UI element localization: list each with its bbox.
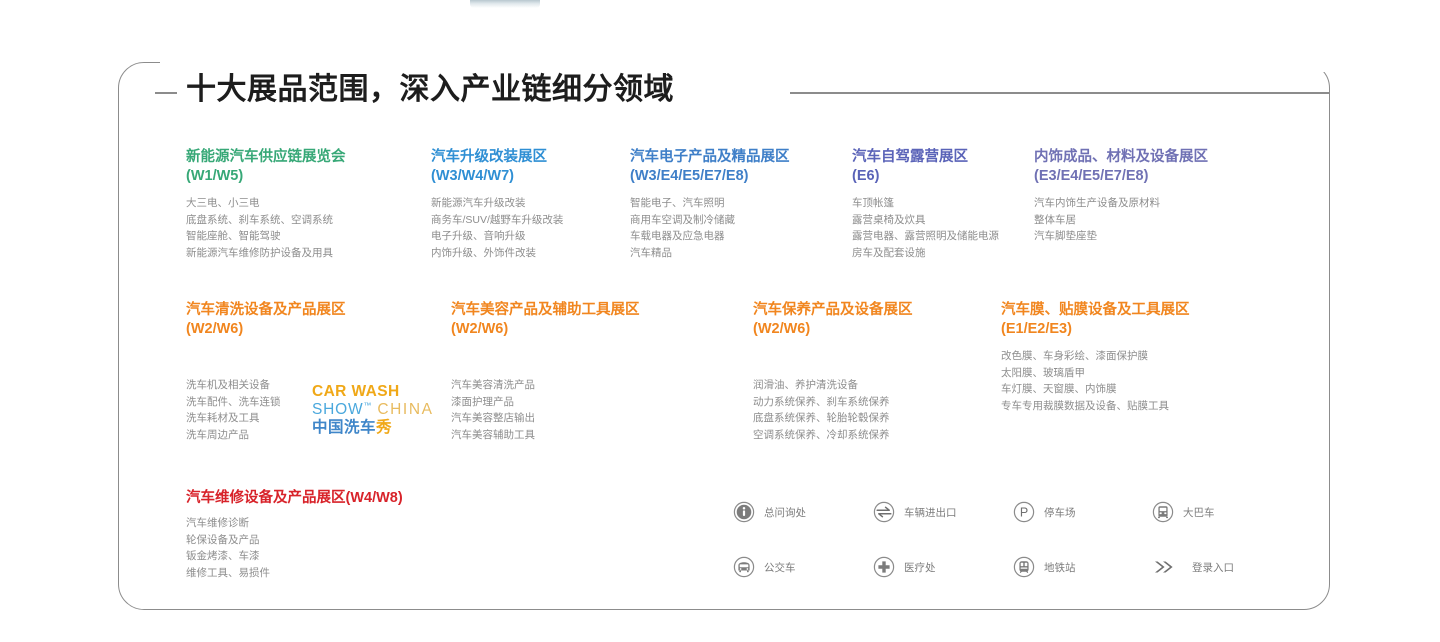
category-6: 汽车美容产品及辅助工具展区(W2/W6) 汽车美容清洗产品 漆面护理产品 汽车美…	[451, 301, 681, 443]
list-item: 汽车精品	[630, 245, 846, 262]
legend-item-city-bus[interactable]: 公交车	[733, 556, 796, 578]
list-item: 轮保设备及产品	[186, 532, 516, 549]
logo-line-car-wash: CAR WASH	[312, 384, 434, 400]
svg-text:P: P	[1020, 506, 1028, 520]
list-item: 漆面护理产品	[451, 394, 681, 411]
coach-bus-icon	[1152, 501, 1174, 523]
list-item: 空调系统保养、冷却系统保养	[753, 427, 973, 444]
medical-icon	[873, 556, 895, 578]
legend-item-label: 公交车	[764, 560, 796, 575]
list-item: 底盘系统、刹车系统、空调系统	[186, 212, 424, 229]
legend-item-coach-bus[interactable]: 大巴车	[1152, 501, 1215, 523]
list-item: 汽车内饰生产设备及原材料	[1034, 195, 1264, 212]
category-2-title: 汽车电子产品及精品展区(W3/E4/E5/E7/E8)	[630, 148, 846, 186]
category-0-title: 新能源汽车供应链展览会(W1/W5)	[186, 148, 424, 186]
category-9: 汽车维修设备及产品展区(W4/W8) 汽车维修诊断 轮保设备及产品 钣金烤漆、车…	[186, 489, 516, 581]
list-item: 汽车维修诊断	[186, 515, 516, 532]
category-2-items: 智能电子、汽车照明 商用车空调及制冷储藏 车载电器及应急电器 汽车精品	[630, 195, 846, 261]
subway-icon	[1013, 556, 1035, 578]
category-8: 汽车膜、贴膜设备及工具展区(E1/E2/E3) 改色膜、车身彩绘、漆面保护膜 太…	[1001, 301, 1261, 414]
category-1: 汽车升级改装展区(W3/W4/W7) 新能源汽车升级改装 商务车/SUV/越野车…	[431, 148, 623, 261]
city-bus-icon	[733, 556, 755, 578]
title-rule-left	[155, 92, 177, 94]
category-9-title: 汽车维修设备及产品展区(W4/W8)	[186, 489, 516, 508]
category-6-title: 汽车美容产品及辅助工具展区(W2/W6)	[451, 301, 681, 339]
list-item: 维修工具、易损件	[186, 565, 516, 582]
category-8-items: 改色膜、车身彩绘、漆面保护膜 太阳膜、玻璃盾甲 车灯膜、天窗膜、内饰膜 专车专用…	[1001, 348, 1261, 414]
list-item: 车顶帐篷	[852, 195, 1032, 212]
category-4-items: 汽车内饰生产设备及原材料 整体车居 汽车脚垫座垫	[1034, 195, 1264, 245]
list-item: 改色膜、车身彩绘、漆面保护膜	[1001, 348, 1261, 365]
category-3-items: 车顶帐篷 露营桌椅及炊具 露营电器、露营照明及储能电源 房车及配套设施	[852, 195, 1032, 261]
list-item: 露营桌椅及炊具	[852, 212, 1032, 229]
category-4-title: 内饰成品、材料及设备展区(E3/E4/E5/E7/E8)	[1034, 148, 1264, 186]
information-icon	[733, 501, 755, 523]
list-item: 汽车美容整店输出	[451, 410, 681, 427]
list-item: 专车专用裁膜数据及设备、贴膜工具	[1001, 398, 1261, 415]
list-item: 整体车居	[1034, 212, 1264, 229]
parking-icon: P	[1013, 501, 1035, 523]
category-7: 汽车保养产品及设备展区(W2/W6) 润滑油、养护清洗设备 动力系统保养、刹车系…	[753, 301, 973, 443]
list-item: 大三电、小三电	[186, 195, 424, 212]
list-item: 商务车/SUV/越野车升级改装	[431, 212, 623, 229]
list-item: 新能源汽车升级改装	[431, 195, 623, 212]
legend-item-medical[interactable]: 医疗处	[873, 556, 936, 578]
category-2: 汽车电子产品及精品展区(W3/E4/E5/E7/E8) 智能电子、汽车照明 商用…	[630, 148, 846, 261]
list-item: 汽车脚垫座垫	[1034, 228, 1264, 245]
title-rule-right	[790, 92, 1330, 94]
legend-item-label: 停车场	[1044, 505, 1076, 520]
legend-item-subway[interactable]: 地铁站	[1013, 556, 1076, 578]
category-0: 新能源汽车供应链展览会(W1/W5) 大三电、小三电 底盘系统、刹车系统、空调系…	[186, 148, 424, 261]
legend-item-label: 大巴车	[1183, 505, 1215, 520]
list-item: 润滑油、养护清洗设备	[753, 377, 973, 394]
category-3: 汽车自驾露营展区(E6) 车顶帐篷 露营桌椅及炊具 露营电器、露营照明及储能电源…	[852, 148, 1032, 261]
category-7-title: 汽车保养产品及设备展区(W2/W6)	[753, 301, 973, 339]
car-wash-show-china-logo: CAR WASH SHOW™ CHINA 中国洗车秀	[312, 384, 434, 436]
category-9-items: 汽车维修诊断 轮保设备及产品 钣金烤漆、车漆 维修工具、易损件	[186, 515, 516, 581]
legend-item-parking[interactable]: P 停车场	[1013, 501, 1076, 523]
page-title: 十大展品范围，深入产业链细分领域	[186, 69, 674, 111]
list-item: 车载电器及应急电器	[630, 228, 846, 245]
category-3-title: 汽车自驾露营展区(E6)	[852, 148, 1032, 186]
list-item: 商用车空调及制冷储藏	[630, 212, 846, 229]
list-item: 车灯膜、天窗膜、内饰膜	[1001, 381, 1261, 398]
category-1-items: 新能源汽车升级改装 商务车/SUV/越野车升级改装 电子升级、音响升级 内饰升级…	[431, 195, 623, 261]
list-item: 电子升级、音响升级	[431, 228, 623, 245]
legend-item-vehicle-entrance[interactable]: 车辆进出口	[873, 501, 957, 523]
list-item: 动力系统保养、刹车系统保养	[753, 394, 973, 411]
category-0-items: 大三电、小三电 底盘系统、刹车系统、空调系统 智能座舱、智能驾驶 新能源汽车维修…	[186, 195, 424, 261]
list-item: 内饰升级、外饰件改装	[431, 245, 623, 262]
poster-page: 十大展品范围，深入产业链细分领域 新能源汽车供应链展览会(W1/W5) 大三电、…	[0, 0, 1440, 642]
legend-item-label: 登录入口	[1192, 560, 1234, 575]
legend-item-registration-entrance[interactable]: 登录入口	[1152, 556, 1234, 578]
category-7-items: 润滑油、养护清洗设备 动力系统保养、刹车系统保养 底盘系统保养、轮胎轮毂保养 空…	[753, 377, 973, 443]
list-item: 新能源汽车维修防护设备及用具	[186, 245, 424, 262]
legend-item-label: 地铁站	[1044, 560, 1076, 575]
list-item: 智能电子、汽车照明	[630, 195, 846, 212]
logo-line-chinese: 中国洗车秀	[312, 420, 434, 436]
registration-entrance-icon	[1152, 556, 1180, 578]
legend-item-label: 总问询处	[764, 505, 806, 520]
legend-item-label: 车辆进出口	[904, 505, 957, 520]
list-item: 智能座舱、智能驾驶	[186, 228, 424, 245]
list-item: 房车及配套设施	[852, 245, 1032, 262]
list-item: 汽车美容辅助工具	[451, 427, 681, 444]
vehicle-entrance-icon	[873, 501, 895, 523]
legend-item-label: 医疗处	[904, 560, 936, 575]
logo-line-show-china: SHOW™ CHINA	[312, 402, 434, 418]
category-6-items: 汽车美容清洗产品 漆面护理产品 汽车美容整店输出 汽车美容辅助工具	[451, 377, 681, 443]
list-item: 露营电器、露营照明及储能电源	[852, 228, 1032, 245]
category-5-title: 汽车清洗设备及产品展区(W2/W6)	[186, 301, 424, 339]
list-item: 太阳膜、玻璃盾甲	[1001, 365, 1261, 382]
list-item: 汽车美容清洗产品	[451, 377, 681, 394]
category-1-title: 汽车升级改装展区(W3/W4/W7)	[431, 148, 623, 186]
category-4: 内饰成品、材料及设备展区(E3/E4/E5/E7/E8) 汽车内饰生产设备及原材…	[1034, 148, 1264, 245]
category-8-title: 汽车膜、贴膜设备及工具展区(E1/E2/E3)	[1001, 301, 1261, 339]
legend-item-information[interactable]: 总问询处	[733, 501, 806, 523]
list-item: 底盘系统保养、轮胎轮毂保养	[753, 410, 973, 427]
top-cropped-element	[470, 0, 540, 8]
list-item: 钣金烤漆、车漆	[186, 548, 516, 565]
